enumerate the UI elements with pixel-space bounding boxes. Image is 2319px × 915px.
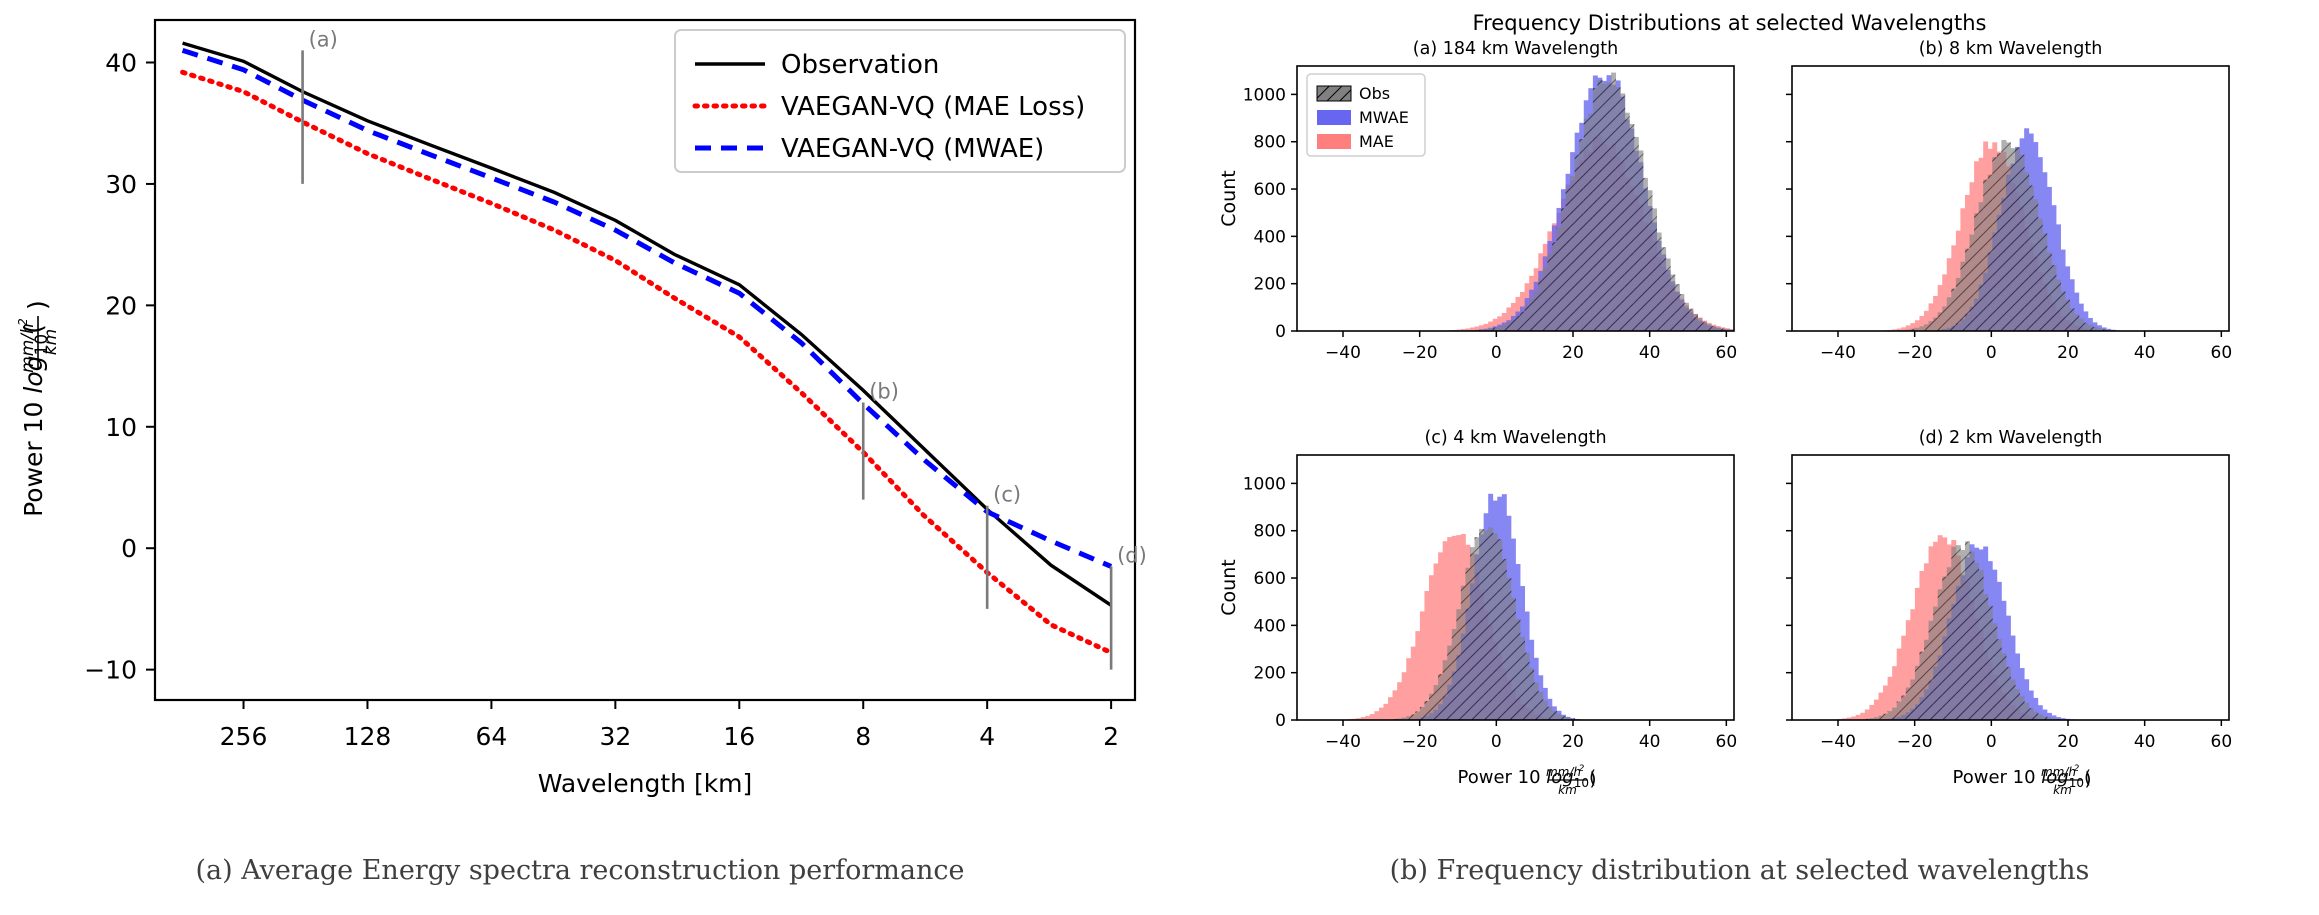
hist-bar-hatch xyxy=(2001,653,2006,720)
hist-bar-hatch xyxy=(1638,150,1643,331)
hist-y-tick-label: 0 xyxy=(1275,322,1286,342)
hist-series-Obs xyxy=(1897,140,2116,331)
hist-bar-hatch xyxy=(1625,113,1630,331)
hist-x-tick-label: 40 xyxy=(1639,343,1661,363)
histogram-hist-184km xyxy=(1443,73,1735,331)
hist-bar-hatch xyxy=(1988,175,1993,331)
hist-bar-hatch xyxy=(1520,637,1525,720)
hist-bar-hatch xyxy=(1688,309,1693,331)
hist-bar-hatch xyxy=(1883,714,1888,720)
hist-bar-hatch xyxy=(2011,148,2016,331)
hist-legend-swatch-hatch-0 xyxy=(1317,86,1351,101)
y-tick-label: 20 xyxy=(105,291,137,320)
histogram-hist-2km xyxy=(1833,535,2075,720)
hist-bar-hatch xyxy=(1597,80,1602,331)
hist-bar-hatch xyxy=(1506,322,1511,331)
svg-text:2: 2 xyxy=(16,318,30,326)
svg-text:Count: Count xyxy=(1218,170,1240,226)
hist-x-tick-label: −40 xyxy=(1820,732,1856,752)
hist-y-tick-label: 1000 xyxy=(1243,85,1286,105)
hist-bar-hatch xyxy=(1588,114,1593,331)
hist-bar-hatch xyxy=(1634,137,1639,331)
x-tick-label: 8 xyxy=(855,722,871,751)
hist-bar-hatch xyxy=(1960,262,1965,331)
legend-label-1: VAEGAN-VQ (MAE Loss) xyxy=(781,92,1085,122)
svg-text:km: km xyxy=(1558,783,1577,797)
hist-bar-hatch xyxy=(1901,695,1906,720)
figure-root: 256128643216842−10010203040Wavelength [k… xyxy=(0,0,2319,915)
hist-bar-hatch xyxy=(1438,674,1443,720)
hist-bar-hatch xyxy=(1951,289,1956,331)
hist-bar-hatch xyxy=(1447,646,1452,720)
hist-x-tick-label: −40 xyxy=(1325,343,1361,363)
hist-bar-hatch xyxy=(2015,689,2020,720)
hist-bar-hatch xyxy=(1933,318,1938,331)
hist-bar-hatch xyxy=(1643,178,1648,331)
histogram-hist-8km xyxy=(1883,128,2120,331)
x-tick-label: 2 xyxy=(1103,722,1119,751)
hist-bar-hatch xyxy=(1593,88,1598,331)
svg-text:km: km xyxy=(41,329,61,355)
hist-bar-hatch xyxy=(1675,284,1680,331)
histogram-hist-4km xyxy=(1343,494,1585,720)
hist-bar-hatch xyxy=(1538,692,1543,720)
hist-bar-hatch xyxy=(1947,567,1952,720)
hist-bar-hatch xyxy=(1584,119,1589,331)
legend-label-0: Observation xyxy=(781,50,939,80)
hist-bar-hatch xyxy=(1543,268,1548,331)
hist-x-tick-label: 0 xyxy=(1986,343,1997,363)
hist-bar-hatch xyxy=(1693,314,1698,331)
hist-bar-hatch xyxy=(1983,180,1988,331)
hist-bar-hatch xyxy=(1420,707,1425,720)
hist-bar-hatch xyxy=(1534,683,1539,720)
svg-text:2: 2 xyxy=(2074,764,2080,774)
hist-bar-hatch xyxy=(1974,563,1979,720)
hist-y-tick-label: 200 xyxy=(1254,275,1286,295)
hist-bar-hatch xyxy=(2011,680,2016,720)
hist-bar-hatch xyxy=(1915,666,1920,720)
hist-bar xyxy=(1420,611,1425,720)
marker-label-d: (d) xyxy=(1117,543,1147,567)
hist-bar-hatch xyxy=(1942,306,1947,331)
hist-bar-hatch xyxy=(1547,707,1552,720)
hist-bar-hatch xyxy=(1938,589,1943,720)
hist-bar xyxy=(1370,714,1375,720)
hist-bar-hatch xyxy=(1997,639,2002,720)
hist-bar-hatch xyxy=(2024,172,2029,331)
hist-bar-hatch xyxy=(1947,297,1952,331)
hist-bar-hatch xyxy=(1707,324,1712,331)
hist-bar-hatch xyxy=(1965,249,1970,331)
hist-x-tick-label: 0 xyxy=(1986,732,1997,752)
hist-x-tick-label: −20 xyxy=(1402,732,1438,752)
hist-bar-hatch xyxy=(1983,594,1988,720)
hist-x-tick-label: 20 xyxy=(2057,732,2079,752)
hist-bar-hatch xyxy=(2020,696,2025,720)
hist-bar-hatch xyxy=(2061,291,2066,331)
svg-text:Count: Count xyxy=(1218,559,1240,615)
svg-text:mm/h: mm/h xyxy=(18,323,38,373)
marker-label-b: (b) xyxy=(869,380,899,404)
hist-bar-hatch xyxy=(1956,545,1961,720)
hist-bar-hatch xyxy=(1979,570,1984,720)
marker-label-a: (a) xyxy=(309,27,338,51)
hist-bar-hatch xyxy=(1933,607,1938,720)
hist-bar-hatch xyxy=(2051,265,2056,331)
hist-bar-hatch xyxy=(1938,312,1943,331)
hist-bar-hatch xyxy=(2070,308,2075,331)
x-tick-label: 32 xyxy=(599,722,631,751)
hist-bar-hatch xyxy=(1556,714,1561,720)
hist-bar xyxy=(1874,700,1879,720)
hist-y-axis-title: Count xyxy=(1218,559,1240,615)
y-tick-label: 10 xyxy=(105,413,137,442)
hist-bar-hatch xyxy=(1997,153,2002,331)
hist-bar xyxy=(1865,709,1870,720)
hist-bar-hatch xyxy=(1611,73,1616,331)
hist-bar xyxy=(1388,697,1393,720)
hist-bar xyxy=(1406,658,1411,720)
hist-bar xyxy=(1374,711,1379,720)
hist-bar-hatch xyxy=(2038,714,2043,720)
hist-bar-hatch xyxy=(1543,701,1548,720)
hist-x-tick-label: 0 xyxy=(1491,343,1502,363)
x-tick-label: 128 xyxy=(344,722,392,751)
hist-x-axis-title: Power 10 log10(mm/h2km) xyxy=(1953,764,2092,797)
hist-bar-hatch xyxy=(1493,533,1498,720)
hist-bar xyxy=(1402,672,1407,720)
hist-legend-swatch-2 xyxy=(1317,134,1351,149)
hist-bar-hatch xyxy=(2074,314,2079,331)
hist-bar-hatch xyxy=(1970,552,1975,720)
svg-text:): ) xyxy=(1590,769,1597,790)
hist-y-tick-label: 200 xyxy=(1254,664,1286,684)
hist-bar-hatch xyxy=(1979,202,1984,331)
hist-y-tick-label: 600 xyxy=(1254,180,1286,200)
hist-bar-hatch xyxy=(1488,527,1493,720)
hist-bar-hatch xyxy=(1906,687,1911,720)
hist-legend-label-1: MWAE xyxy=(1359,108,1409,127)
subplot-title: (c) 4 km Wavelength xyxy=(1424,428,1606,448)
hist-bar-hatch xyxy=(2033,199,2038,331)
hist-bar-hatch xyxy=(1424,701,1429,720)
hist-bar-hatch xyxy=(1475,537,1480,720)
x-tick-label: 16 xyxy=(723,722,755,751)
hist-y-tick-label: 800 xyxy=(1254,133,1286,153)
hist-y-tick-label: 400 xyxy=(1254,227,1286,247)
hist-bar-hatch xyxy=(2024,703,2029,720)
svg-text:2: 2 xyxy=(1579,764,1585,774)
hist-bar-hatch xyxy=(1988,606,1993,720)
y-tick-label: 40 xyxy=(105,49,137,78)
hist-bar-hatch xyxy=(2042,233,2047,331)
x-tick-label: 256 xyxy=(220,722,268,751)
svg-text:): ) xyxy=(2085,769,2092,790)
hist-bar-hatch xyxy=(2047,252,2052,331)
hist-bar-hatch xyxy=(1670,275,1675,331)
subplot-title: (a) 184 km Wavelength xyxy=(1413,39,1618,59)
hist-bar-hatch xyxy=(2015,148,2020,331)
hist-bar-hatch xyxy=(1415,711,1420,720)
hist-bar-hatch xyxy=(1552,242,1557,331)
hist-bar-hatch xyxy=(1552,711,1557,720)
hist-bar xyxy=(1860,713,1865,720)
svg-text:mm/h: mm/h xyxy=(1546,765,1581,779)
hist-bar-hatch xyxy=(2033,712,2038,720)
hist-bar-hatch xyxy=(1506,578,1511,720)
hist-bar-hatch xyxy=(1924,640,1929,720)
hist-bar-hatch xyxy=(1888,711,1893,720)
hist-x-tick-label: 60 xyxy=(2211,343,2233,363)
hist-x-tick-label: 60 xyxy=(1716,732,1738,752)
hist-bar-hatch xyxy=(1520,312,1525,331)
hist-bar-hatch xyxy=(1516,619,1521,720)
hist-bar-hatch xyxy=(1534,292,1539,331)
hist-bar-hatch xyxy=(1629,124,1634,331)
hist-bar-hatch xyxy=(1929,321,1934,331)
y-tick-label: 0 xyxy=(121,534,137,563)
hist-bar-hatch xyxy=(1956,278,1961,331)
x-tick-label: 4 xyxy=(979,722,995,751)
hist-legend-swatch-1 xyxy=(1317,110,1351,125)
hist-bar-hatch xyxy=(2029,185,2034,331)
legend-label-2: VAEGAN-VQ (MWAE) xyxy=(781,134,1044,164)
hist-bar xyxy=(1397,682,1402,720)
hist-bar-hatch xyxy=(1525,305,1530,331)
hist-y-tick-label: 400 xyxy=(1254,616,1286,636)
svg-text:mm/h: mm/h xyxy=(2041,765,2076,779)
hist-x-tick-label: 20 xyxy=(1562,343,1584,363)
hist-bar-hatch xyxy=(1679,294,1684,331)
hist-bar-hatch xyxy=(1965,541,1970,720)
hist-bar-hatch xyxy=(1892,708,1897,720)
hist-bar-hatch xyxy=(2088,325,2093,331)
hist-bar-hatch xyxy=(1566,188,1571,331)
hist-bar-hatch xyxy=(1516,316,1521,331)
hist-x-axis-title: Power 10 log10(mm/h2km) xyxy=(1458,764,1597,797)
hist-x-tick-label: 60 xyxy=(2211,732,2233,752)
hist-bar-hatch xyxy=(1456,609,1461,720)
hist-bar-hatch xyxy=(1616,87,1621,331)
hist-bar xyxy=(1424,591,1429,720)
hist-bar xyxy=(1393,690,1398,720)
svg-text:): ) xyxy=(23,300,52,310)
hist-bar-hatch xyxy=(1570,176,1575,331)
hist-bar-hatch xyxy=(2079,319,2084,331)
hist-x-tick-label: 60 xyxy=(1716,343,1738,363)
hist-bar-hatch xyxy=(1684,303,1689,331)
hist-bar-hatch xyxy=(1470,547,1475,720)
hist-bar-hatch xyxy=(1484,530,1489,720)
hist-bar-hatch xyxy=(1666,259,1671,332)
hist-bar-hatch xyxy=(2006,667,2011,720)
hist-bar-hatch xyxy=(1502,559,1507,720)
hist-bar-hatch xyxy=(1992,623,1997,720)
energy-spectra-chart: 256128643216842−10010203040Wavelength [k… xyxy=(0,0,1160,850)
hist-bar-hatch xyxy=(1702,322,1707,331)
hist-bar-hatch xyxy=(1942,577,1947,720)
hist-bar-hatch xyxy=(1511,598,1516,720)
hist-bar-hatch xyxy=(1529,668,1534,720)
hist-x-tick-label: 40 xyxy=(1639,732,1661,752)
hist-x-tick-label: 40 xyxy=(2134,732,2156,752)
frequency-distribution-charts: Frequency Distributions at selected Wave… xyxy=(1160,0,2319,850)
hist-bar-hatch xyxy=(1434,685,1439,720)
x-axis-title: Wavelength [km] xyxy=(538,769,753,798)
hist-bar-hatch xyxy=(1919,652,1924,720)
hist-x-tick-label: 20 xyxy=(2057,343,2079,363)
hist-bar-hatch xyxy=(1661,247,1666,331)
hist-bar xyxy=(1379,708,1384,720)
y-tick-label: −10 xyxy=(84,656,137,685)
hist-x-tick-label: 20 xyxy=(1562,732,1584,752)
hist-bar-hatch xyxy=(1511,319,1516,331)
hist-bar-hatch xyxy=(1910,679,1915,720)
hist-bar-hatch xyxy=(1497,539,1502,720)
hist-bar-hatch xyxy=(2065,300,2070,331)
hist-bar-hatch xyxy=(1924,324,1929,331)
hist-bar-hatch xyxy=(1648,190,1653,331)
panel-a-caption: (a) Average Energy spectra reconstructio… xyxy=(0,855,1160,886)
hist-x-tick-label: −40 xyxy=(1820,343,1856,363)
hist-bar-hatch xyxy=(1974,213,1979,331)
hist-bar-hatch xyxy=(1602,84,1607,331)
hist-bar-hatch xyxy=(1525,653,1530,720)
panel-b-suptitle: Frequency Distributions at selected Wave… xyxy=(1473,11,1987,35)
hist-x-tick-label: −20 xyxy=(1897,343,1933,363)
hist-bar-hatch xyxy=(1502,325,1507,331)
hist-y-tick-label: 0 xyxy=(1275,711,1286,731)
hist-x-tick-label: −40 xyxy=(1325,732,1361,752)
hist-bar xyxy=(1415,631,1420,720)
hist-bar xyxy=(1411,647,1416,720)
svg-text:km: km xyxy=(2053,783,2072,797)
hist-bar-hatch xyxy=(2020,155,2025,331)
hist-bar-hatch xyxy=(1529,299,1534,331)
hist-bar-hatch xyxy=(1461,586,1466,720)
subplot-title: (b) 8 km Wavelength xyxy=(1919,39,2103,59)
marker-label-c: (c) xyxy=(993,483,1021,507)
hist-bar-hatch xyxy=(1575,155,1580,331)
hist-bar-hatch xyxy=(2038,219,2043,331)
hist-bar-hatch xyxy=(1538,279,1543,331)
hist-bar-hatch xyxy=(1652,208,1657,331)
hist-bar xyxy=(1869,705,1874,720)
x-tick-label: 64 xyxy=(476,722,508,751)
hist-x-tick-label: −20 xyxy=(1402,343,1438,363)
hist-bar-hatch xyxy=(1556,228,1561,331)
hist-y-tick-label: 1000 xyxy=(1243,474,1286,494)
hist-bar-hatch xyxy=(1929,621,1934,720)
hist-bar-hatch xyxy=(2056,280,2061,331)
hist-bar-hatch xyxy=(1897,702,1902,720)
hist-bar-hatch xyxy=(1657,232,1662,331)
hist-bar-hatch xyxy=(1547,254,1552,331)
hist-bar-hatch xyxy=(1479,529,1484,720)
hist-bar-hatch xyxy=(1579,139,1584,331)
hist-x-tick-label: 40 xyxy=(2134,343,2156,363)
hist-y-axis-title: Count xyxy=(1218,170,1240,226)
hist-bar-hatch xyxy=(1951,547,1956,720)
hist-bar-hatch xyxy=(1429,694,1434,720)
hist-bar-hatch xyxy=(1411,714,1416,720)
hist-series-Obs xyxy=(1470,73,1734,331)
hist-bar-hatch xyxy=(1607,83,1612,331)
hist-x-tick-label: −20 xyxy=(1897,732,1933,752)
panel-frequency-distributions: Frequency Distributions at selected Wave… xyxy=(1160,0,2319,915)
hist-bar-hatch xyxy=(1561,208,1566,331)
hist-legend-label-0: Obs xyxy=(1359,84,1390,103)
hist-bar-hatch xyxy=(1960,550,1965,720)
subplot-title: (d) 2 km Wavelength xyxy=(1919,428,2103,448)
hist-y-tick-label: 800 xyxy=(1254,522,1286,542)
hist-bar-hatch xyxy=(1698,318,1703,331)
hist-bar-hatch xyxy=(1465,568,1470,720)
hist-bar-hatch xyxy=(2083,323,2088,331)
hist-bar-hatch xyxy=(1620,93,1625,331)
hist-bar-hatch xyxy=(2006,142,2011,331)
hist-x-tick-label: 0 xyxy=(1491,732,1502,752)
panel-energy-spectra: 256128643216842−10010203040Wavelength [k… xyxy=(0,0,1160,915)
hist-legend-label-2: MAE xyxy=(1359,132,1394,151)
hist-bar-hatch xyxy=(1970,235,1975,331)
hist-bar-hatch xyxy=(1452,629,1457,720)
hist-bar xyxy=(1383,704,1388,720)
hist-y-tick-label: 600 xyxy=(1254,569,1286,589)
hist-bar-hatch xyxy=(2029,708,2034,720)
hist-bar-hatch xyxy=(1992,157,1997,331)
hist-bar-hatch xyxy=(2001,140,2006,331)
panel-b-caption: (b) Frequency distribution at selected w… xyxy=(1160,855,2319,886)
hist-bar-hatch xyxy=(1443,660,1448,720)
y-tick-label: 30 xyxy=(105,170,137,199)
y-axis-title: Power 10 log10( mm/h2km) xyxy=(16,300,61,517)
